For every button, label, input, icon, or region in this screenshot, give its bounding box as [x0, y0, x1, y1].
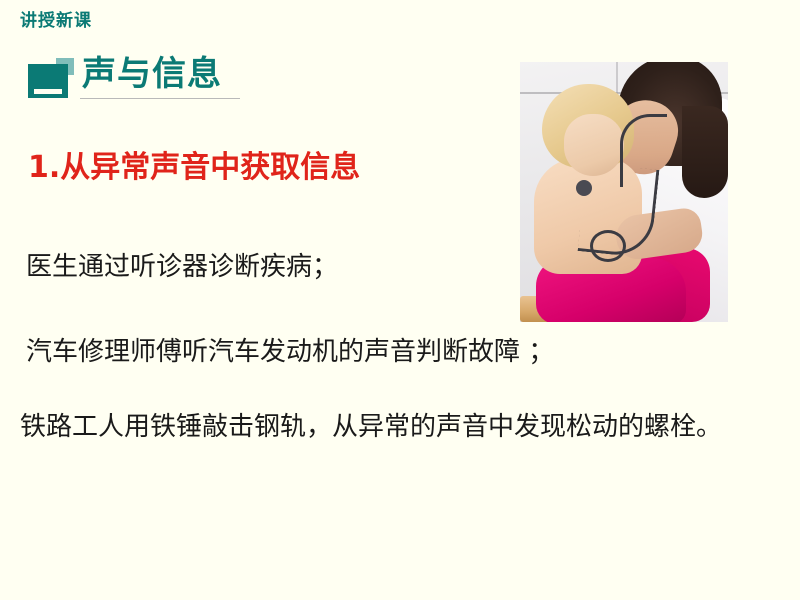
body-paragraph-2: 汽车修理师傅听汽车发动机的声音判断故障 ； — [26, 333, 554, 371]
body-paragraph-1: 医生通过听诊器诊断疾病； — [26, 248, 338, 286]
slide-canvas: 讲授新课 声与信息 1.从异常声音中获取信息 医生通过听诊器诊断疾病； 汽车修理… — [0, 0, 800, 600]
section-label: 讲授新课 — [20, 6, 92, 31]
doctor-child-stethoscope-photo — [520, 62, 728, 322]
square-bar-icon — [28, 58, 74, 98]
heading-numbered: 1.从异常声音中获取信息 — [28, 148, 360, 188]
page-title: 声与信息 — [82, 50, 222, 98]
photo-doctor-hair-back — [682, 106, 728, 198]
photo-stethoscope-chestpiece — [576, 180, 592, 196]
square-bar-icon-body — [28, 64, 68, 98]
title-underline-rule — [80, 98, 240, 99]
photo-stethoscope-tube-loop — [590, 230, 626, 262]
body-paragraph-3: 铁路工人用铁锤敲击钢轨，从异常的声音中发现松动的螺栓。 — [20, 408, 750, 446]
square-bar-icon-stripe — [34, 89, 62, 94]
